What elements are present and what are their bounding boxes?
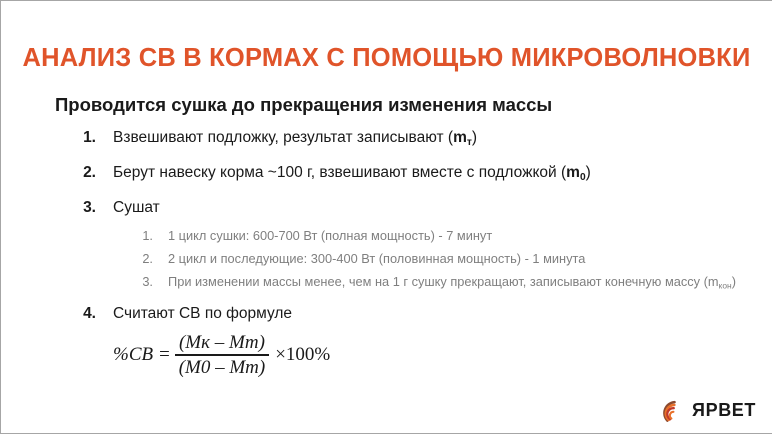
slide-body: Проводится сушка до прекращения изменени… bbox=[55, 93, 745, 329]
list-item: 1. Взвешивают подложку, результат записы… bbox=[55, 123, 745, 158]
list-item-text: 1 цикл сушки: 600-700 Вт (полная мощност… bbox=[168, 224, 745, 247]
list-item-text-tail: ) bbox=[586, 164, 591, 181]
brand-name: ЯРВЕТ bbox=[692, 400, 756, 421]
list-item-number: 4. bbox=[74, 299, 96, 329]
list-item-text-main: Берут навеску корма ~100 г, взвешивают в… bbox=[113, 164, 566, 181]
symbol-m: m bbox=[453, 129, 467, 146]
list-item-text: 2 цикл и последующие: 300-400 Вт (полови… bbox=[168, 247, 745, 270]
list-item-number: 2. bbox=[74, 158, 96, 188]
list-item-number: 3. bbox=[133, 270, 153, 293]
arcs-logo-icon bbox=[658, 398, 683, 423]
slide-title: АНАЛИЗ СВ В КОРМАХ С ПОМОЩЬЮ МИКРОВОЛНОВ… bbox=[1, 44, 772, 73]
list-item-text: Считают СВ по формуле bbox=[113, 299, 745, 329]
list-item-text: Взвешивают подложку, результат записываю… bbox=[113, 123, 745, 158]
drying-substeps-list: 1. 1 цикл сушки: 600-700 Вт (полная мощн… bbox=[113, 224, 745, 297]
formula-numerator: (Мк – Мm) bbox=[175, 332, 269, 354]
list-item-text: Берут навеску корма ~100 г, взвешивают в… bbox=[113, 158, 745, 193]
list-item: 2. 2 цикл и последующие: 300-400 Вт (пол… bbox=[113, 247, 745, 270]
formula-left-side: %СВ = bbox=[113, 344, 171, 366]
list-item: 3. При изменении массы менее, чем на 1 г… bbox=[113, 270, 745, 297]
list-item: 4. Считают СВ по формуле bbox=[55, 299, 745, 329]
list-item-text-main: Взвешивают подложку, результат записываю… bbox=[113, 129, 453, 146]
formula-fraction: (Мк – Мm) (М0 – Мm) bbox=[175, 332, 270, 378]
symbol-m: m bbox=[566, 164, 580, 181]
symbol-subscript: кон bbox=[719, 280, 732, 290]
list-item: 2. Берут навеску корма ~100 г, взвешиваю… bbox=[55, 158, 745, 193]
slide: АНАЛИЗ СВ В КОРМАХ С ПОМОЩЬЮ МИКРОВОЛНОВ… bbox=[0, 0, 772, 434]
list-item-text-tail: ) bbox=[472, 129, 477, 146]
formula-denominator: (М0 – Мm) bbox=[175, 356, 270, 378]
list-item-text-main: При изменении массы менее, чем на 1 г су… bbox=[168, 274, 719, 289]
procedure-list: 1. Взвешивают подложку, результат записы… bbox=[55, 123, 745, 329]
list-item-number: 2. bbox=[133, 247, 153, 270]
list-item-number: 3. bbox=[74, 193, 96, 223]
list-item-text-tail: ) bbox=[732, 274, 736, 289]
list-item-number: 1. bbox=[74, 123, 96, 153]
list-item-number: 1. bbox=[133, 224, 153, 247]
brand-logo: ЯРВЕТ bbox=[658, 398, 756, 423]
slide-subtitle: Проводится сушка до прекращения изменени… bbox=[55, 93, 745, 117]
list-item: 1. 1 цикл сушки: 600-700 Вт (полная мощн… bbox=[113, 224, 745, 247]
formula-right-side: ×100% bbox=[275, 344, 330, 366]
dry-matter-formula: %СВ = (Мк – Мm) (М0 – Мm) ×100% bbox=[113, 332, 330, 378]
list-item-text: Сушат bbox=[113, 193, 745, 223]
list-item: 3. Сушат 1. 1 цикл сушки: 600-700 Вт (по… bbox=[55, 193, 745, 297]
list-item-text: При изменении массы менее, чем на 1 г су… bbox=[168, 270, 745, 297]
